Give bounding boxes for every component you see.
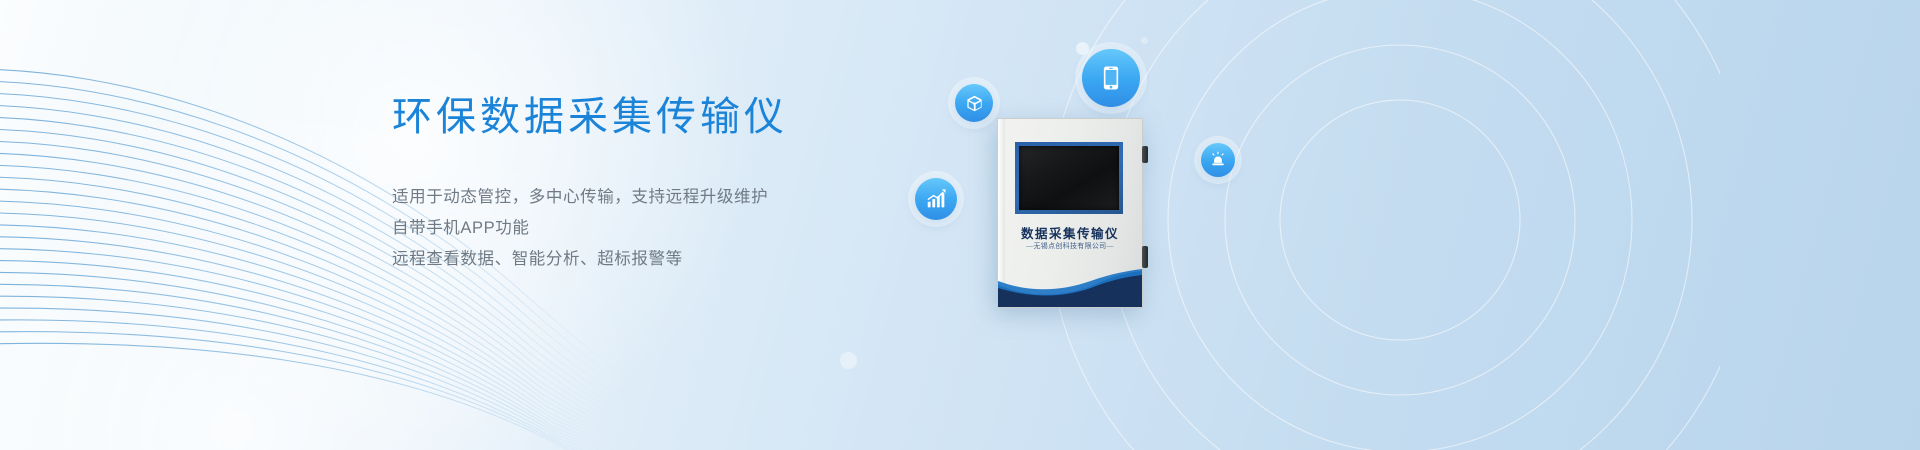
chart-icon [925, 188, 947, 210]
device-company-name: —无锡点创科技有限公司— [998, 241, 1142, 251]
alarm-icon [1209, 151, 1227, 169]
decorative-dot [1076, 42, 1089, 55]
page-title: 环保数据采集传输仪 [392, 92, 1012, 142]
device-body: 数据采集传输仪 —无锡点创科技有限公司— [997, 118, 1143, 308]
feature-line-2: 自带手机APP功能 [392, 213, 1012, 244]
product-banner: 环保数据采集传输仪 适用于动态管控，多中心传输，支持远程升级维护 自带手机APP… [0, 0, 1920, 450]
decorative-dot [840, 352, 857, 369]
device-side-port [1142, 146, 1148, 163]
chart-icon-badge[interactable] [915, 178, 957, 220]
device-screen [1019, 146, 1119, 210]
phone-icon-badge[interactable] [1082, 49, 1140, 107]
device-screen-bezel [1015, 142, 1123, 214]
decorative-dot [1141, 37, 1148, 44]
device-brand-title: 数据采集传输仪 [998, 223, 1142, 242]
device-side-connector [1142, 246, 1148, 268]
banner-copy: 环保数据采集传输仪 适用于动态管控，多中心传输，支持远程升级维护 自带手机APP… [392, 92, 1012, 275]
phone-icon [1098, 65, 1124, 91]
cube-icon-badge[interactable] [955, 84, 993, 122]
cube-icon [965, 94, 984, 113]
product-device: 数据采集传输仪 —无锡点创科技有限公司— [997, 118, 1143, 308]
alarm-icon-badge[interactable] [1201, 143, 1235, 177]
device-wave-graphic [998, 261, 1142, 307]
feature-line-3: 远程查看数据、智能分析、超标报警等 [392, 244, 1012, 275]
